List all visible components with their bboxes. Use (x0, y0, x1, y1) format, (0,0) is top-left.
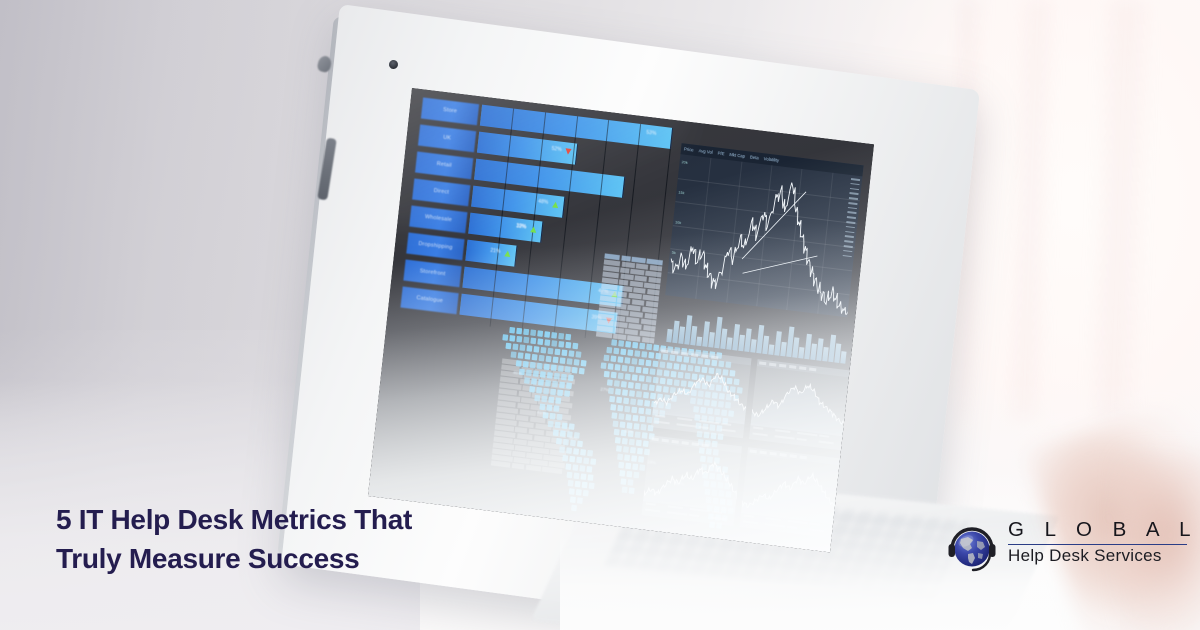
table-cell (619, 279, 629, 285)
map-cell (568, 375, 574, 382)
map-cell (548, 421, 554, 428)
line-chart-trendline-2 (743, 247, 818, 282)
map-cell (572, 343, 578, 350)
map-cell (624, 454, 630, 461)
map-cell (532, 354, 538, 361)
mini-area-chart[interactable] (739, 447, 840, 538)
map-cell (516, 336, 522, 343)
map-cell (548, 396, 554, 403)
map-cell (565, 342, 571, 349)
map-cell (622, 438, 628, 445)
map-cell (618, 413, 624, 420)
map-cell (613, 348, 619, 355)
mini-chart-footer-cell (712, 511, 722, 514)
map-cell (590, 458, 596, 465)
map-cell (541, 396, 547, 403)
tick-mark (847, 212, 856, 215)
mini-chart-footer-cell (797, 438, 807, 441)
tick-mark (845, 235, 854, 238)
map-cell (540, 371, 546, 378)
map-cell (565, 366, 571, 373)
map-cell (557, 389, 563, 396)
map-cell (630, 447, 636, 454)
map-cell (615, 364, 621, 371)
map-cell (545, 380, 551, 387)
tick-mark (847, 216, 856, 219)
map-cell (613, 421, 619, 428)
map-cell (530, 338, 536, 345)
map-cell (555, 397, 561, 404)
map-cell (516, 328, 522, 335)
map-cell (618, 373, 624, 380)
map-cell (561, 349, 567, 356)
map-cell (553, 356, 559, 363)
map-cell (632, 374, 638, 381)
tick-mark (849, 192, 858, 195)
tick-mark (850, 188, 859, 191)
table-cell (617, 303, 627, 309)
map-cell (550, 413, 556, 420)
mini-area-charts-panel[interactable] (641, 347, 849, 538)
bar-value-label: 52% (551, 146, 562, 153)
map-cell (537, 363, 543, 370)
bar-end-label: 19% (516, 223, 527, 230)
trend-up-icon (552, 201, 559, 208)
map-cell (625, 341, 631, 348)
tick-mark (844, 245, 853, 248)
map-cell (530, 362, 536, 369)
mini-bar[interactable] (840, 351, 846, 363)
mini-chart-footer-cell (775, 435, 795, 439)
table-cell (618, 291, 628, 297)
mini-chart-footer-cell (753, 427, 763, 430)
line-chart-column-header: Avg Vol (698, 148, 713, 155)
bar-row-label: Store (421, 97, 479, 125)
map-cell (547, 348, 553, 355)
map-cell (643, 367, 649, 374)
map-cell (641, 351, 647, 358)
mini-chart-footer-cell (766, 517, 781, 520)
mini-chart-footer-cell (810, 523, 820, 526)
map-cell (611, 412, 617, 419)
map-cell (643, 392, 649, 399)
map-cell (634, 350, 640, 357)
mini-chart-footer-cell (645, 509, 660, 512)
map-cell (623, 446, 629, 453)
map-cell (632, 342, 638, 349)
mini-area-chart[interactable] (749, 359, 850, 450)
line-chart-column-header: Beta (750, 155, 759, 161)
map-cell (525, 353, 531, 360)
map-cell (620, 478, 626, 485)
map-cell (635, 431, 641, 438)
map-cell (569, 456, 575, 463)
line-chart-series (665, 154, 862, 317)
map-cell (587, 474, 593, 481)
map-cell (553, 429, 559, 436)
map-cell (537, 338, 543, 345)
map-cell (580, 473, 586, 480)
map-cell (617, 405, 623, 412)
map-cell (615, 388, 621, 395)
mini-bar[interactable] (798, 347, 804, 359)
map-cell (531, 378, 537, 385)
map-cell (509, 335, 515, 342)
logo-title: G L O B A L (1008, 520, 1198, 541)
trend-down-icon (565, 148, 572, 155)
mini-chart-footer-cell (743, 521, 758, 524)
mini-chart-footer-cell (787, 526, 797, 529)
map-cell (564, 390, 570, 397)
mini-bar[interactable] (768, 344, 774, 355)
line-chart-column-header: Price (684, 147, 694, 153)
map-cell (639, 464, 645, 471)
map-cell (581, 360, 587, 367)
map-cell (583, 457, 589, 464)
map-cell (558, 365, 564, 372)
map-cell (544, 331, 550, 338)
map-cell (580, 449, 586, 456)
map-cell (618, 340, 624, 347)
map-cell (631, 358, 637, 365)
map-cell (644, 400, 650, 407)
map-cell (516, 360, 522, 367)
mini-chart-footer-cell (711, 517, 726, 520)
map-cell (626, 471, 632, 478)
map-cell (546, 404, 552, 411)
map-cell (632, 415, 638, 422)
map-cell (536, 387, 542, 394)
table-cell (621, 255, 631, 261)
map-cell (577, 497, 583, 504)
map-cell (540, 347, 546, 354)
map-cell (550, 389, 556, 396)
mini-chart-footer-cell (699, 426, 709, 429)
map-cell (618, 462, 624, 469)
map-cell (526, 345, 532, 352)
map-cell (609, 396, 615, 403)
map-percentage-label: 27% (600, 387, 609, 393)
logo-text-block: G L O B A L Help Desk Services (1008, 520, 1198, 566)
bar-row-label: Dropshipping (406, 232, 464, 260)
line-chart-column-header: Mkt Cap (729, 152, 745, 159)
tick-mark (845, 231, 854, 234)
map-cell (530, 329, 536, 336)
page-title: 5 IT Help Desk Metrics That Truly Measur… (56, 500, 526, 578)
map-cell (638, 456, 644, 463)
map-percentage-label: 38% (568, 435, 577, 441)
map-cell (583, 490, 589, 497)
mini-chart-footer-cell (677, 423, 697, 427)
map-cell (582, 482, 588, 489)
trend-up-icon (504, 250, 511, 257)
map-cell (642, 432, 648, 439)
map-cell (622, 389, 628, 396)
map-cell (631, 407, 637, 414)
bar-row-label: Retail (415, 151, 473, 179)
map-cell (627, 349, 633, 356)
bar-row-label: Direct (412, 178, 470, 206)
map-cell (523, 329, 529, 336)
map-cell (533, 370, 539, 377)
mini-chart-footer-cell (819, 441, 834, 444)
map-cell (565, 334, 571, 341)
map-cell (636, 440, 642, 447)
mini-chart-footer-cell (819, 435, 829, 438)
map-cell (646, 376, 652, 383)
map-cell (625, 463, 631, 470)
map-cell (561, 374, 567, 381)
map-cell (519, 344, 525, 351)
map-cell (589, 482, 595, 489)
map-cell (635, 383, 641, 390)
map-cell (543, 388, 549, 395)
map-cell (524, 377, 530, 384)
map-cell (639, 375, 645, 382)
map-cell (636, 391, 642, 398)
tick-mark (846, 221, 855, 224)
map-cell (569, 423, 575, 430)
map-cell (634, 423, 640, 430)
map-cell (511, 351, 517, 358)
map-cell (622, 365, 628, 372)
tick-mark (849, 197, 858, 200)
map-cell (631, 455, 637, 462)
mini-chart-footer-cell (788, 520, 808, 524)
map-cell (555, 422, 561, 429)
map-cell (576, 489, 582, 496)
map-cell (572, 464, 578, 471)
globe-headset-icon (944, 520, 1000, 576)
map-cell (617, 356, 623, 363)
map-cell (518, 352, 524, 359)
map-cell (566, 382, 572, 389)
tick-mark (843, 250, 852, 253)
map-cell (562, 422, 568, 429)
map-cell (610, 355, 616, 362)
map-cell (650, 368, 656, 375)
map-cell (551, 340, 557, 347)
map-cell (562, 455, 568, 462)
mini-chart-footer-cell (809, 529, 824, 532)
mini-chart-footer-cell (655, 415, 665, 418)
mini-chart-footer-cell (744, 515, 754, 518)
map-cell (614, 380, 620, 387)
map-cell (637, 448, 643, 455)
map-cell (573, 473, 579, 480)
map-cell (566, 447, 572, 454)
map-cell (616, 397, 622, 404)
mini-chart-footer-cell (646, 503, 656, 506)
map-cell (533, 346, 539, 353)
map-cell (625, 373, 631, 380)
tick-mark (844, 240, 853, 243)
bar-row-label: Catalogue (400, 286, 458, 314)
line-chart-column-header: P/E (717, 151, 724, 157)
map-cell (641, 424, 647, 431)
map-cell (625, 414, 631, 421)
bar-row-label: Storefront (403, 259, 461, 287)
map-cell (546, 356, 552, 363)
map-cell (568, 350, 574, 357)
mini-chart-footer-cell (668, 505, 683, 508)
map-cell (505, 343, 511, 350)
map-cell (624, 406, 630, 413)
map-cell (538, 379, 544, 386)
line-chart-column-header: Volatility (763, 156, 779, 163)
map-cell (529, 386, 535, 393)
map-cell (615, 437, 621, 444)
map-cell (534, 395, 540, 402)
map-cell (552, 381, 558, 388)
map-cell (554, 373, 560, 380)
map-cell (606, 347, 612, 354)
map-cell (568, 480, 574, 487)
mini-chart-footer-cell (765, 523, 785, 527)
map-cell (636, 367, 642, 374)
map-cell (608, 363, 614, 370)
table-cell (620, 267, 630, 273)
map-cell (560, 430, 566, 437)
mini-chart-footer-cell (689, 514, 699, 517)
map-cell (579, 465, 585, 472)
map-cell (617, 454, 623, 461)
map-cell (610, 404, 616, 411)
map-cell (629, 390, 635, 397)
map-cell (639, 343, 645, 350)
headline-line-2: Truly Measure Success (56, 539, 526, 578)
mini-chart-footer-cell (677, 417, 692, 420)
mini-chart-footer-cell (753, 433, 768, 436)
map-cell (556, 438, 562, 445)
tick-mark (850, 183, 859, 186)
map-cell (607, 379, 613, 386)
map-cell (569, 488, 575, 495)
map-cell (577, 441, 583, 448)
map-cell (559, 446, 565, 453)
map-cell (512, 343, 518, 350)
map-cell (586, 466, 592, 473)
map-cell (570, 496, 576, 503)
map-cell (571, 505, 577, 512)
logo-subtitle: Help Desk Services (1008, 547, 1198, 566)
mini-area-chart[interactable] (641, 435, 742, 526)
map-cell (566, 472, 572, 479)
map-cell (509, 327, 515, 334)
mini-chart-footer-cell (721, 423, 731, 426)
map-cell (616, 445, 622, 452)
map-cell (623, 398, 629, 405)
map-cell (547, 372, 553, 379)
map-cell (639, 416, 645, 423)
map-cell (544, 364, 550, 371)
bar-end-label: 53% (646, 130, 657, 137)
map-cell (645, 408, 651, 415)
map-cell (565, 463, 571, 470)
map-cell (619, 470, 625, 477)
map-cell (638, 359, 644, 366)
table-cell (616, 315, 626, 321)
brand-logo[interactable]: G L O B A L Help Desk Services (944, 520, 1198, 566)
line-chart-panel[interactable]: PriceAvg VolP/EMkt CapBetaVolatility 20k… (665, 143, 863, 317)
map-cell (587, 450, 593, 457)
map-percentage-label: 41% (537, 409, 546, 415)
map-cell (646, 344, 652, 351)
map-cell (628, 382, 634, 389)
map-cell (648, 352, 654, 359)
laptop-screen[interactable]: Store53%UK52%RetailDirect48%Wholesale32%… (368, 88, 874, 552)
map-cell (645, 360, 651, 367)
bar-row-label: Wholesale (409, 205, 467, 233)
map-cell (558, 341, 564, 348)
mini-chart-footer-cell (775, 429, 790, 432)
mini-chart-footer-cell (690, 508, 710, 512)
map-cell (537, 330, 543, 337)
map-cell (558, 333, 564, 340)
bar-value-label: 21% (490, 248, 501, 255)
map-cell (632, 463, 638, 470)
map-cell (544, 339, 550, 346)
map-cell (638, 407, 644, 414)
map-cell (575, 481, 581, 488)
map-cell (603, 355, 609, 362)
tick-mark (851, 178, 860, 181)
map-cell (539, 355, 545, 362)
tick-mark (848, 202, 857, 205)
mini-chart-footer-cell (667, 511, 687, 515)
map-cell (551, 332, 557, 339)
analytics-dashboard: Store53%UK52%RetailDirect48%Wholesale32%… (368, 88, 874, 552)
map-cell (601, 362, 607, 369)
map-cell (611, 339, 617, 346)
mini-area-chart[interactable] (651, 347, 752, 438)
line-chart-trendline-1 (742, 185, 806, 266)
map-cell (614, 429, 620, 436)
map-percentage-label: 46% (513, 370, 522, 376)
map-cell (523, 361, 529, 368)
bar-row-label: UK (418, 124, 476, 152)
map-cell (642, 384, 648, 391)
map-cell (554, 349, 560, 356)
mini-chart-footer-cell (797, 432, 817, 436)
map-cell (572, 367, 578, 374)
map-cell (622, 487, 628, 494)
tick-mark (848, 207, 857, 210)
map-cell (629, 439, 635, 446)
map-cell (559, 382, 565, 389)
map-cell (551, 364, 557, 371)
map-cell (560, 357, 566, 364)
line-chart-price-line (668, 169, 863, 315)
map-cell (611, 372, 617, 379)
map-cell (637, 399, 643, 406)
bar-value-label: 48% (538, 199, 549, 206)
map-cell (573, 448, 579, 455)
map-cell (630, 398, 636, 405)
mini-bar[interactable] (696, 336, 702, 346)
map-cell (567, 358, 573, 365)
map-cell (574, 359, 580, 366)
map-cell (526, 369, 532, 376)
map-cell (553, 405, 559, 412)
map-cell (627, 479, 633, 486)
map-cell (629, 366, 635, 373)
map-percentage-label: 23% (624, 428, 633, 434)
map-cell (629, 487, 635, 494)
mini-chart-footer-cell (721, 429, 736, 432)
map-cell (624, 357, 630, 364)
map-cell (576, 457, 582, 464)
